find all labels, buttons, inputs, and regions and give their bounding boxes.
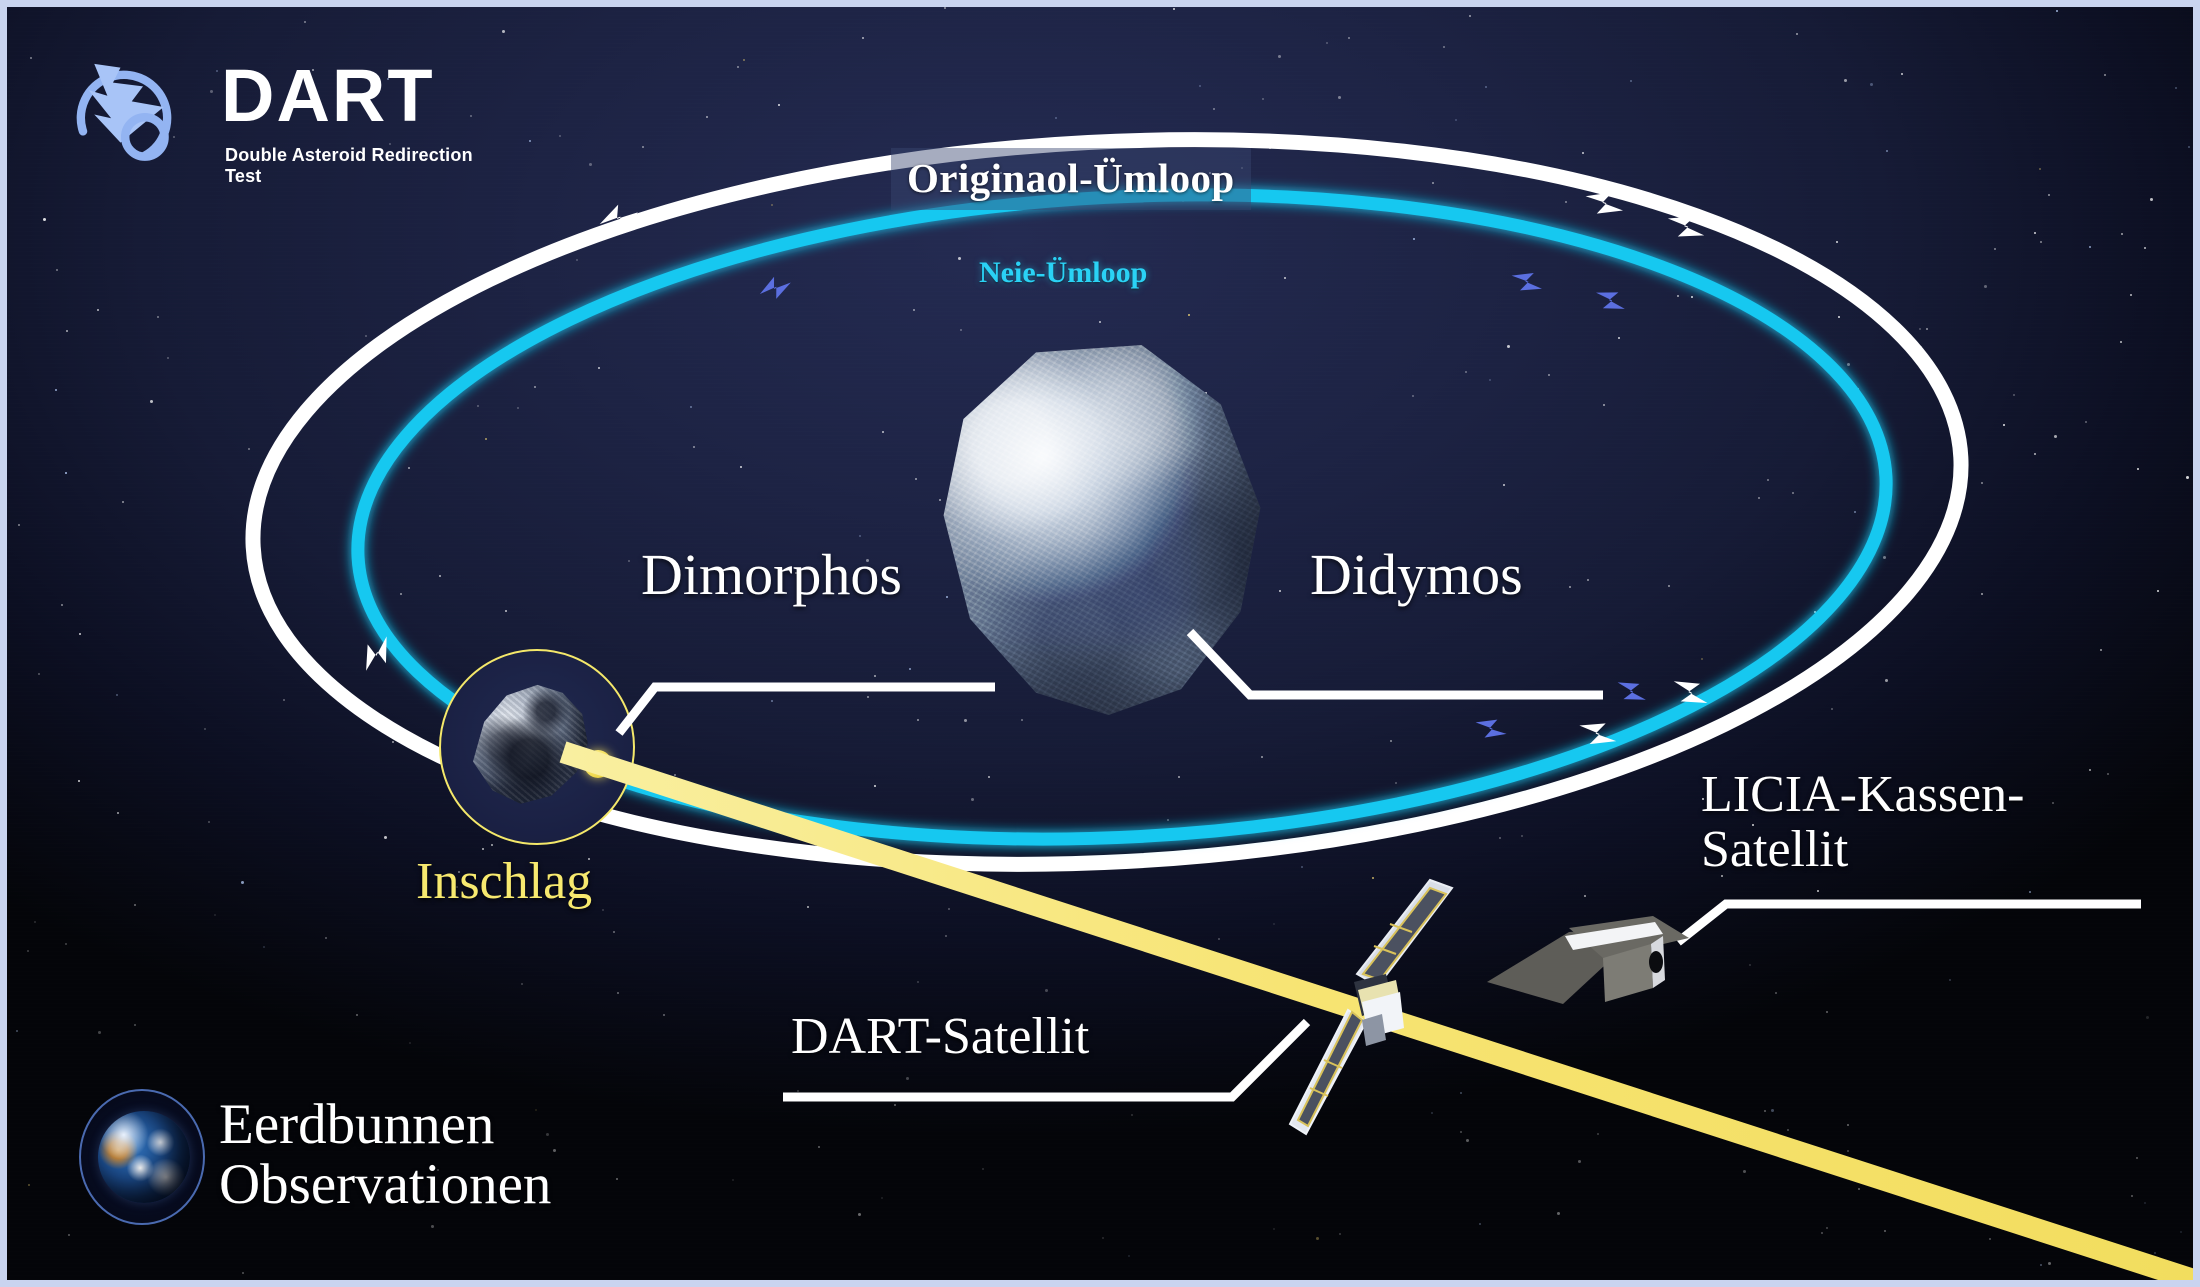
dart-comet-logo-icon [53, 45, 203, 167]
dart-diagram: Originaol-Ümloop Neie-Ümloop Dimorphos D… [0, 0, 2200, 1287]
earth-observation-icon [79, 1089, 205, 1225]
label-dart-satellite: DART-Satellit [791, 1007, 1089, 1066]
star [2196, 950, 2198, 952]
earth-globe [98, 1111, 190, 1203]
label-earth-line1: Eerdbunnen [219, 1095, 551, 1155]
leader-didymos [1190, 632, 1603, 695]
dart-solar-array-lower [1290, 1010, 1366, 1134]
label-licia-satellite: LICIA-Kassen- Satellit [1701, 767, 2024, 877]
licia-camera-lens [1649, 951, 1663, 973]
label-earth-observations: Eerdbunnen Observationen [219, 1095, 551, 1216]
label-new-orbit: Neie-Ümloop [979, 256, 1147, 290]
dart-wordmark: DART [221, 53, 435, 138]
label-impact: Inschlag [416, 852, 592, 911]
dart-bus [1354, 974, 1404, 1046]
label-didymos: Didymos [1310, 541, 1523, 608]
label-earth-line2: Observationen [219, 1155, 551, 1215]
dart-tagline: Double Asteroid Redirection Test [225, 145, 483, 187]
label-original-orbit: Originaol-Ümloop [891, 148, 1251, 210]
label-licia-line1: LICIA-Kassen- [1701, 767, 2024, 822]
label-licia-line2: Satellit [1701, 822, 2024, 877]
label-dimorphos: Dimorphos [641, 541, 902, 608]
star [2195, 7, 2197, 9]
leader-dimorphos [619, 687, 995, 733]
leader-licia-satellite [1678, 904, 2141, 942]
dart-logo: DART Double Asteroid Redirection Test [53, 41, 483, 171]
dart-solar-array-upper [1357, 880, 1452, 986]
liciacube-spacecraft [1477, 892, 1727, 1057]
